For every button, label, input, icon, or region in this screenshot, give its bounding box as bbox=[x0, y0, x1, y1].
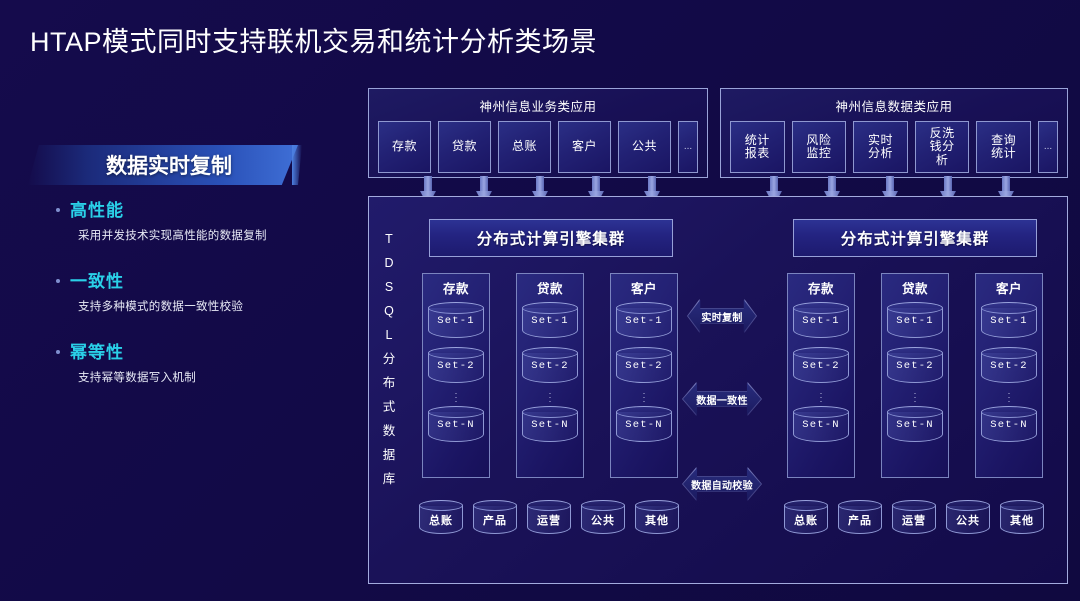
feature-description: 支持幂等数据写入机制 bbox=[78, 369, 196, 385]
set-group-title: 客户 bbox=[611, 278, 677, 297]
set-group-title: 贷款 bbox=[517, 278, 583, 297]
bottom-cylinder[interactable]: 其他 bbox=[635, 500, 679, 538]
tdsql-container: T D S Q L 分 布 式 数 据 库 分布式计算引擎集群 分布式计算引擎集… bbox=[368, 196, 1068, 584]
app-cell-more[interactable]: ... bbox=[1038, 121, 1058, 173]
vertical-label-char: 布 bbox=[383, 371, 396, 395]
set-cylinder[interactable]: Set-1 bbox=[428, 302, 484, 342]
set-label: Set-2 bbox=[887, 360, 943, 372]
bottom-cylinder[interactable]: 公共 bbox=[581, 500, 625, 538]
set-label: Set-1 bbox=[616, 315, 672, 327]
app-group-title: 神州信息数据类应用 bbox=[721, 89, 1067, 115]
set-cylinder[interactable]: Set-N bbox=[793, 406, 849, 446]
bottom-cylinder-label: 总账 bbox=[419, 512, 463, 528]
compute-engine-left[interactable]: 分布式计算引擎集群 bbox=[429, 219, 673, 257]
set-label: Set-1 bbox=[428, 315, 484, 327]
sync-arrow-realtime-replication: 实时复制 bbox=[687, 299, 757, 333]
feature-item-0: 高性能 采用并发技术实现高性能的数据复制 bbox=[56, 196, 267, 243]
set-label: Set-1 bbox=[981, 315, 1037, 327]
app-cell[interactable]: 反洗 钱分 析 bbox=[915, 121, 970, 173]
set-label: Set-N bbox=[981, 419, 1037, 431]
vertical-ellipsis-icon: ... bbox=[882, 389, 948, 401]
bullet-icon bbox=[56, 350, 60, 354]
architecture-diagram: 神州信息业务类应用 存款 贷款 总账 客户 公共 ... 神州信息数据类应用 统… bbox=[368, 88, 1068, 584]
set-group-title: 贷款 bbox=[882, 278, 948, 297]
set-cylinder[interactable]: Set-2 bbox=[616, 347, 672, 387]
set-group: 贷款 Set-1 Set-2 ... Set-N bbox=[516, 273, 584, 478]
set-label: Set-2 bbox=[793, 360, 849, 372]
set-label: Set-2 bbox=[981, 360, 1037, 372]
vertical-ellipsis-icon: ... bbox=[517, 389, 583, 401]
vertical-label-char: 分 bbox=[383, 347, 396, 371]
set-label: Set-1 bbox=[522, 315, 578, 327]
bottom-cylinder-label: 公共 bbox=[581, 512, 625, 528]
set-cylinder[interactable]: Set-N bbox=[981, 406, 1037, 446]
app-cell-row: 统计 报表 风险 监控 实时 分析 反洗 钱分 析 查询 统计 ... bbox=[721, 115, 1067, 173]
set-cylinder[interactable]: Set-1 bbox=[616, 302, 672, 342]
bottom-cylinder-label: 其他 bbox=[635, 512, 679, 528]
sync-arrow-label: 数据自动校验 bbox=[682, 467, 762, 501]
bottom-cylinder[interactable]: 运营 bbox=[527, 500, 571, 538]
page-title: HTAP模式同时支持联机交易和统计分析类场景 bbox=[30, 20, 597, 59]
sync-arrow-label: 数据一致性 bbox=[682, 382, 762, 416]
set-cylinder[interactable]: Set-2 bbox=[981, 347, 1037, 387]
vertical-label-char: 库 bbox=[383, 467, 396, 491]
set-cylinder[interactable]: Set-1 bbox=[793, 302, 849, 342]
set-cylinder[interactable]: Set-1 bbox=[522, 302, 578, 342]
set-label: Set-N bbox=[522, 419, 578, 431]
bottom-cylinder-label: 其他 bbox=[1000, 512, 1044, 528]
bottom-cylinder-label: 产品 bbox=[838, 512, 882, 528]
vertical-ellipsis-icon: ... bbox=[976, 389, 1042, 401]
set-label: Set-N bbox=[887, 419, 943, 431]
set-label: Set-2 bbox=[522, 360, 578, 372]
bullet-icon bbox=[56, 279, 60, 283]
bottom-cylinder[interactable]: 运营 bbox=[892, 500, 936, 538]
vertical-label-char: D bbox=[384, 251, 393, 275]
set-label: Set-N bbox=[616, 419, 672, 431]
set-cylinder[interactable]: Set-2 bbox=[793, 347, 849, 387]
feature-item-1: 一致性 支持多种模式的数据一致性校验 bbox=[56, 267, 243, 314]
set-label: Set-2 bbox=[428, 360, 484, 372]
app-cell[interactable]: 公共 bbox=[618, 121, 671, 173]
bottom-cylinder[interactable]: 公共 bbox=[946, 500, 990, 538]
slide-canvas: HTAP模式同时支持联机交易和统计分析类场景 数据实时复制 高性能 采用并发技术… bbox=[0, 0, 1080, 601]
vertical-label-char: T bbox=[385, 227, 393, 251]
set-group-title: 存款 bbox=[423, 278, 489, 297]
set-label: Set-N bbox=[793, 419, 849, 431]
set-group: 贷款 Set-1 Set-2 ... Set-N bbox=[881, 273, 949, 478]
bottom-cylinder-label: 总账 bbox=[784, 512, 828, 528]
set-cylinder[interactable]: Set-N bbox=[887, 406, 943, 446]
feature-heading: 高性能 bbox=[70, 196, 124, 221]
vertical-ellipsis-icon: ... bbox=[611, 389, 677, 401]
set-cylinder[interactable]: Set-1 bbox=[981, 302, 1037, 342]
set-cylinder[interactable]: Set-1 bbox=[887, 302, 943, 342]
vertical-label-char: 数 bbox=[383, 419, 396, 443]
set-label: Set-N bbox=[428, 419, 484, 431]
bottom-cylinder[interactable]: 总账 bbox=[784, 500, 828, 538]
banner-label: 数据实时复制 bbox=[28, 145, 298, 185]
tdsql-vertical-label: T D S Q L 分 布 式 数 据 库 bbox=[377, 227, 401, 491]
compute-engine-right[interactable]: 分布式计算引擎集群 bbox=[793, 219, 1037, 257]
set-group-title: 存款 bbox=[788, 278, 854, 297]
vertical-label-char: 据 bbox=[383, 443, 396, 467]
bottom-cylinder[interactable]: 其他 bbox=[1000, 500, 1044, 538]
app-cell[interactable]: 总账 bbox=[498, 121, 551, 173]
set-cylinder[interactable]: Set-2 bbox=[887, 347, 943, 387]
feature-description: 采用并发技术实现高性能的数据复制 bbox=[78, 227, 267, 243]
feature-heading-row: 幂等性 bbox=[56, 338, 196, 363]
set-label: Set-1 bbox=[887, 315, 943, 327]
set-cylinder[interactable]: Set-N bbox=[428, 406, 484, 446]
bottom-cylinder-label: 运营 bbox=[892, 512, 936, 528]
bullet-icon bbox=[56, 208, 60, 212]
set-group: 存款 Set-1 Set-2 ... Set-N bbox=[422, 273, 490, 478]
app-cell[interactable]: 查询 统计 bbox=[976, 121, 1031, 173]
sync-arrow-auto-verification: 数据自动校验 bbox=[682, 467, 762, 501]
set-group: 存款 Set-1 Set-2 ... Set-N bbox=[787, 273, 855, 478]
app-group-title: 神州信息业务类应用 bbox=[369, 89, 707, 115]
sync-arrow-data-consistency: 数据一致性 bbox=[682, 382, 762, 416]
vertical-label-char: L bbox=[386, 323, 393, 347]
app-cell[interactable]: 风险 监控 bbox=[792, 121, 847, 173]
set-cylinder[interactable]: Set-N bbox=[522, 406, 578, 446]
vertical-label-char: 式 bbox=[383, 395, 396, 419]
feature-heading: 幂等性 bbox=[70, 338, 124, 363]
app-cell-row: 存款 贷款 总账 客户 公共 ... bbox=[369, 115, 707, 173]
bottom-cylinder-label: 运营 bbox=[527, 512, 571, 528]
app-cell[interactable]: 实时 分析 bbox=[853, 121, 908, 173]
set-cylinder[interactable]: Set-N bbox=[616, 406, 672, 446]
vertical-label-char: S bbox=[385, 275, 393, 299]
bottom-cylinder[interactable]: 总账 bbox=[419, 500, 463, 538]
app-group-data: 神州信息数据类应用 统计 报表 风险 监控 实时 分析 反洗 钱分 析 查询 统… bbox=[720, 88, 1068, 178]
bottom-cylinder-label: 产品 bbox=[473, 512, 517, 528]
app-cell-more[interactable]: ... bbox=[678, 121, 698, 173]
set-group: 客户 Set-1 Set-2 ... Set-N bbox=[610, 273, 678, 478]
feature-item-2: 幂等性 支持幂等数据写入机制 bbox=[56, 338, 196, 385]
vertical-ellipsis-icon: ... bbox=[423, 389, 489, 401]
app-cell[interactable]: 贷款 bbox=[438, 121, 491, 173]
set-group-title: 客户 bbox=[976, 278, 1042, 297]
app-cell[interactable]: 统计 报表 bbox=[730, 121, 785, 173]
set-cylinder[interactable]: Set-2 bbox=[428, 347, 484, 387]
feature-description: 支持多种模式的数据一致性校验 bbox=[78, 298, 243, 314]
feature-heading-row: 高性能 bbox=[56, 196, 267, 221]
app-group-business: 神州信息业务类应用 存款 贷款 总账 客户 公共 ... bbox=[368, 88, 708, 178]
section-banner: 数据实时复制 bbox=[28, 145, 298, 185]
app-cell[interactable]: 存款 bbox=[378, 121, 431, 173]
bottom-cylinder[interactable]: 产品 bbox=[473, 500, 517, 538]
app-cell[interactable]: 客户 bbox=[558, 121, 611, 173]
vertical-ellipsis-icon: ... bbox=[788, 389, 854, 401]
bottom-cylinder[interactable]: 产品 bbox=[838, 500, 882, 538]
set-group: 客户 Set-1 Set-2 ... Set-N bbox=[975, 273, 1043, 478]
vertical-label-char: Q bbox=[384, 299, 394, 323]
feature-heading: 一致性 bbox=[70, 267, 124, 292]
bottom-cylinder-label: 公共 bbox=[946, 512, 990, 528]
set-label: Set-1 bbox=[793, 315, 849, 327]
set-label: Set-2 bbox=[616, 360, 672, 372]
sync-arrow-label: 实时复制 bbox=[687, 299, 757, 333]
feature-heading-row: 一致性 bbox=[56, 267, 243, 292]
set-cylinder[interactable]: Set-2 bbox=[522, 347, 578, 387]
